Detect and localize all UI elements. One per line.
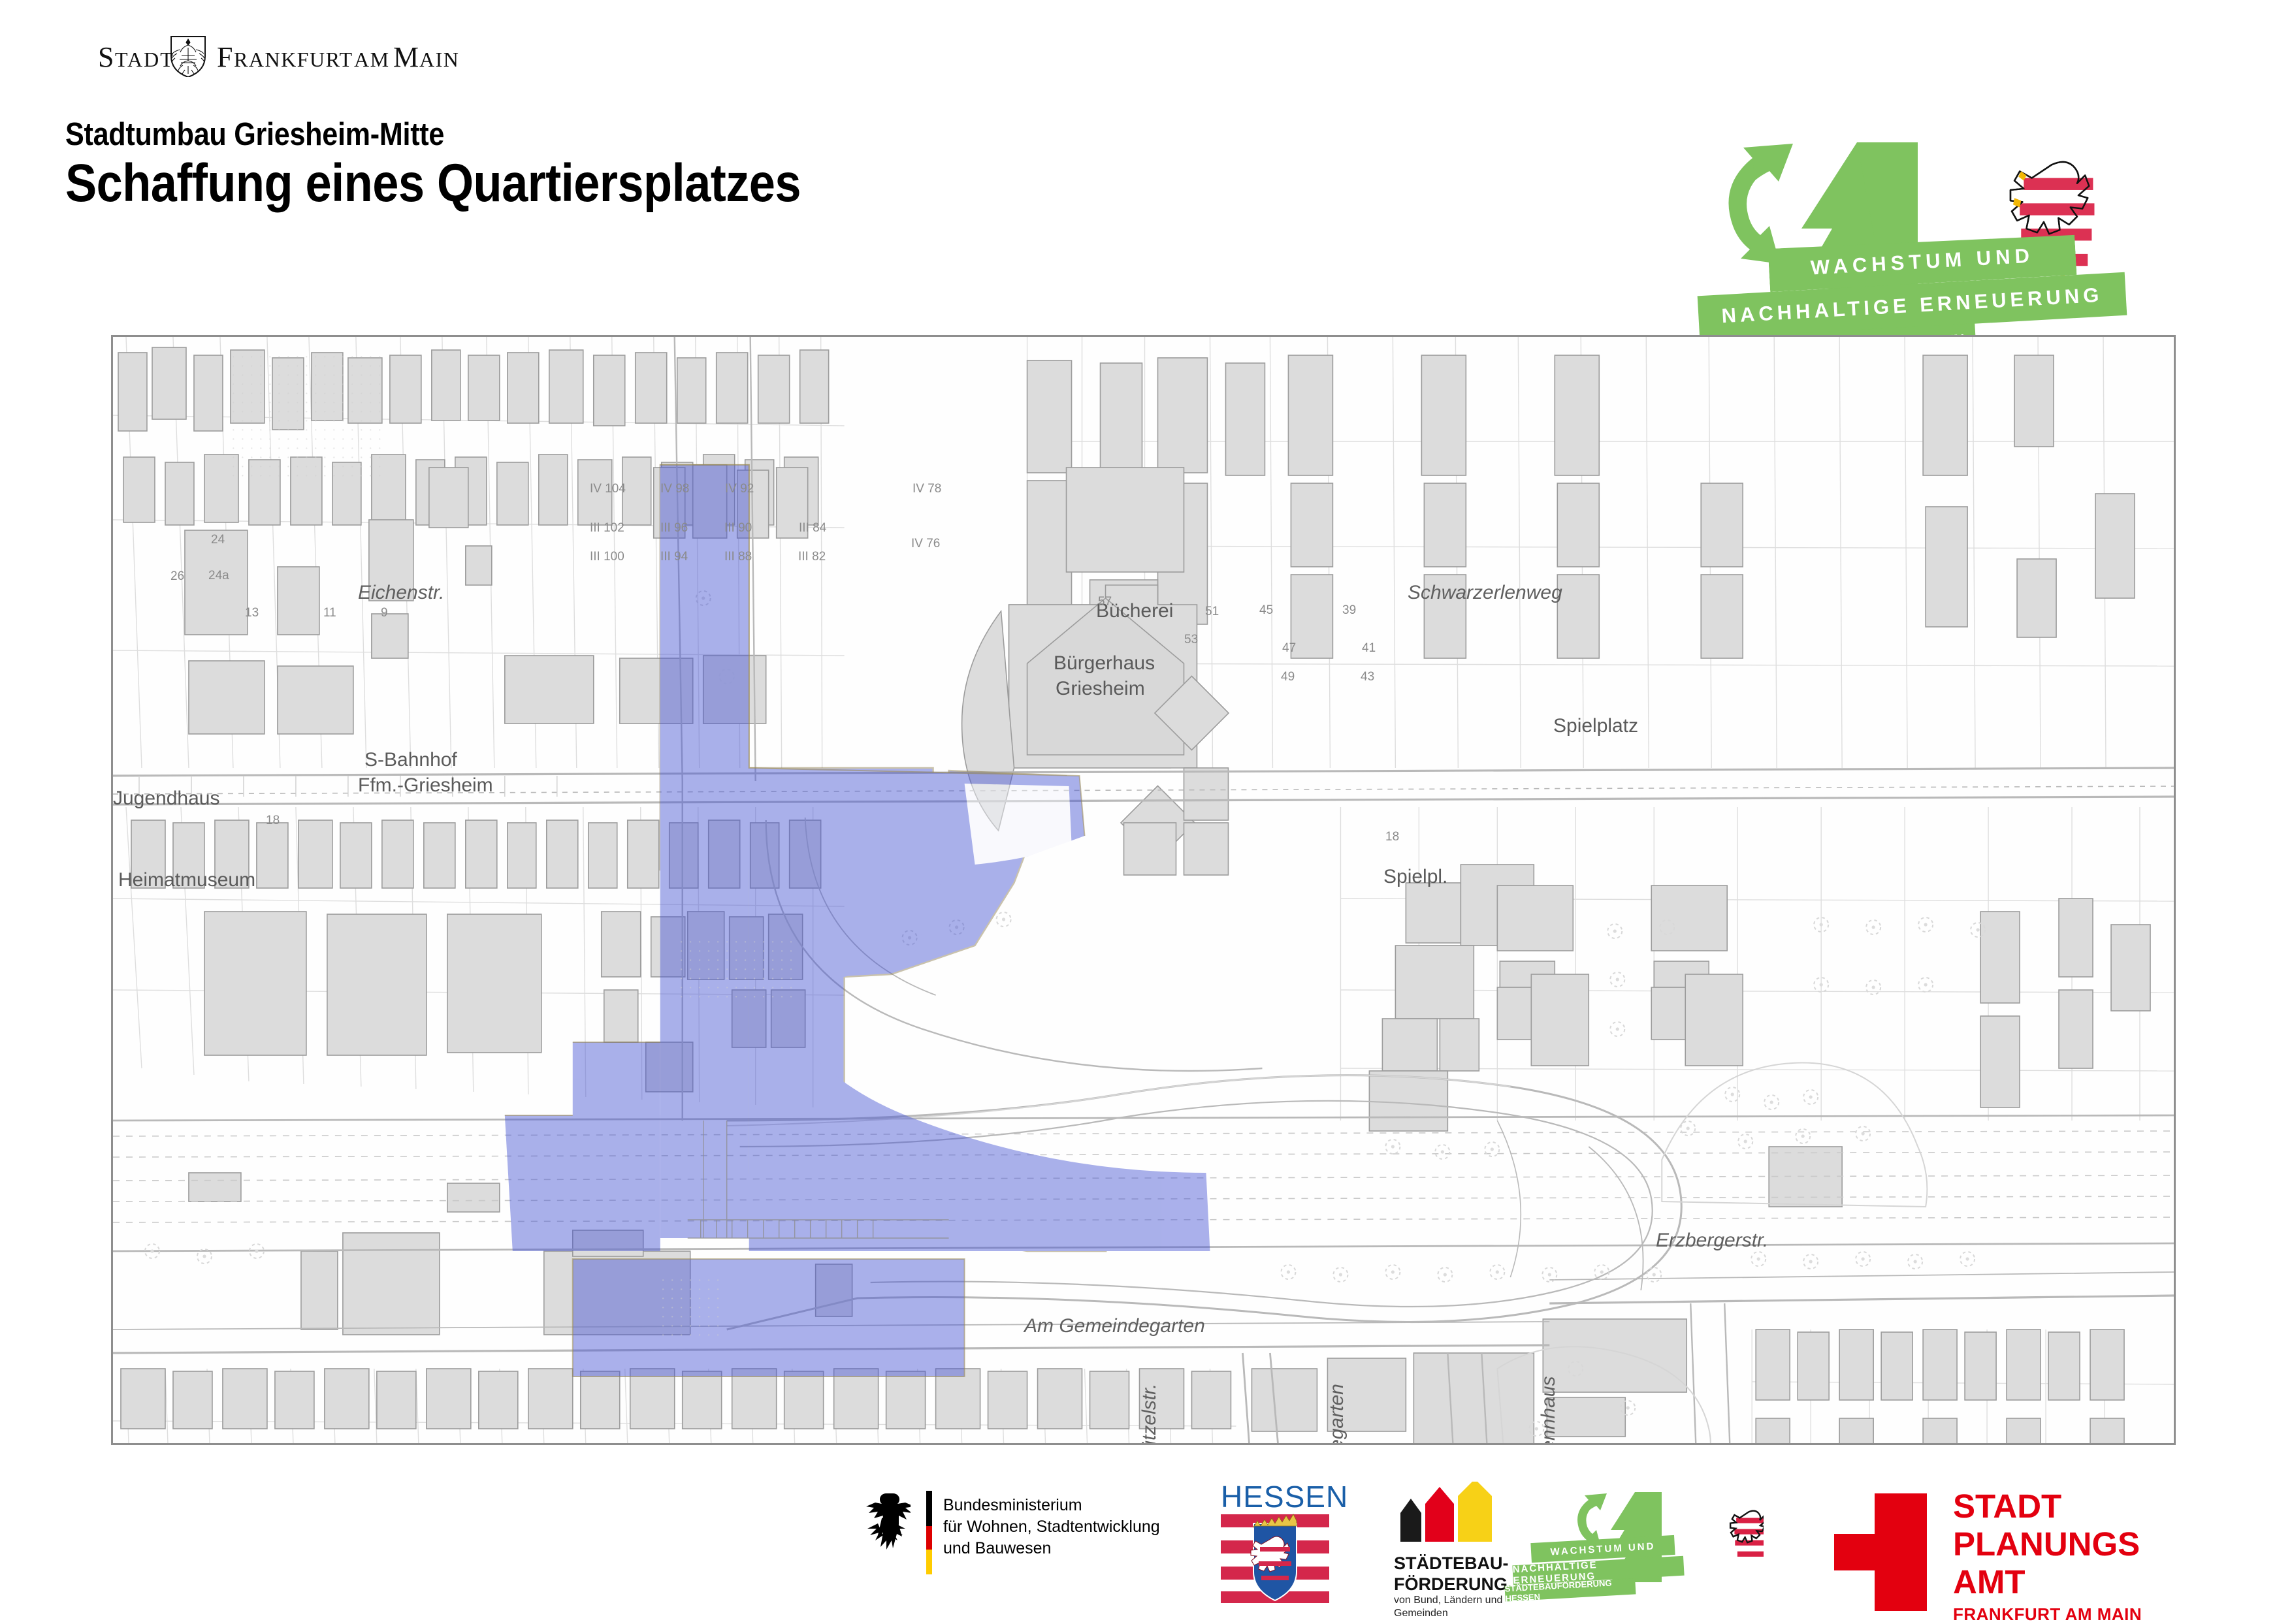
stadtplanungsamt-mark-icon <box>1829 1493 1933 1611</box>
parcel-label: 49 <box>1281 670 1295 684</box>
flag-stripe-red <box>926 1526 932 1550</box>
parcel-label: 26 <box>170 569 184 584</box>
parcel-label: 39 <box>1342 603 1356 618</box>
parcel-label: IV 98 <box>660 482 689 496</box>
project-subtitle: Stadtumbau Griesheim-Mitte <box>65 119 444 151</box>
place-label-buergerhaus: Bürgerhaus <box>1054 652 1155 675</box>
parcel-label: 11 <box>323 606 336 620</box>
hessen-lion-icon-small <box>1730 1511 1764 1557</box>
parcel-label: 51 <box>1205 605 1219 619</box>
parcel-label: III 102 <box>590 521 624 535</box>
parcel-label: III 96 <box>660 521 688 535</box>
svg-text:S: S <box>98 41 114 73</box>
hessen-logo: HESSEN <box>1219 1479 1337 1603</box>
stadtplanungsamt-sub: FRANKFURT AM MAIN <box>1953 1606 2142 1623</box>
parcel-label: 18 <box>1385 830 1399 844</box>
place-label-griesheim: Griesheim <box>1056 678 1145 700</box>
hessen-coat-of-arms-icon <box>1219 1513 1331 1604</box>
place-label-spielplatz: Spielplatz <box>1553 715 1638 737</box>
parcel-label: III 94 <box>660 550 688 564</box>
stadtplanungsamt-line-3: AMT <box>1953 1565 2025 1600</box>
parcel-label: 57 <box>1098 595 1112 609</box>
footer-logo-bar: Bundesministerium für Wohnen, Stadtentwi… <box>0 1473 2292 1619</box>
recycle-arrow-icon <box>1728 144 1793 264</box>
svg-text:RANKFURT: RANKFURT <box>234 48 353 71</box>
flag-stripe-gold <box>926 1550 932 1574</box>
parcel-label: III 84 <box>799 521 826 535</box>
parcel-label: 43 <box>1361 670 1374 684</box>
parcel-label: 41 <box>1362 641 1376 656</box>
svg-text:AIN: AIN <box>419 48 459 71</box>
place-label-ffm-griesheim: Ffm.-Griesheim <box>358 774 493 797</box>
parcel-label: 45 <box>1259 603 1273 618</box>
parcel-label: IV 104 <box>590 482 626 496</box>
place-label-heimatmuseum: Heimatmuseum <box>118 869 255 891</box>
staedtebau-sub-2: Gemeinden <box>1394 1607 1502 1620</box>
cadastral-map[interactable]: Eichenstr. Schwarzerlenweg Am Gemeindega… <box>111 335 2176 1445</box>
parcel-label: III 100 <box>590 550 624 564</box>
parcel-label: III 82 <box>798 550 826 564</box>
hessen-wordmark: HESSEN <box>1221 1479 1348 1514</box>
stadt-frankfurt-am-main-wordmark: S TADT F RANKFURT AM M AIN <box>98 31 516 77</box>
parcel-label: 53 <box>1184 633 1198 647</box>
parcel-label: 47 <box>1282 641 1296 656</box>
parcel-label: 13 <box>245 606 259 620</box>
parcel-label: III 88 <box>724 550 752 564</box>
svg-text:F: F <box>217 41 233 73</box>
place-label-s-bahnhof: S-Bahnhof <box>364 749 457 771</box>
flag-stripe-black <box>926 1491 932 1526</box>
bmwsb-line-2: für Wohnen, Stadtentwicklung <box>943 1516 1160 1538</box>
bmwsb-line-3: und Bauwesen <box>943 1538 1160 1559</box>
svg-text:AM: AM <box>354 48 390 71</box>
stadtplanungsamt-line-2: PLANUNGS <box>1953 1527 2140 1562</box>
staedtebau-line-2: FÖRDERUNG <box>1394 1574 1509 1595</box>
street-label-eichenstr: Eichenstr. <box>358 582 444 604</box>
parcel-label: III 90 <box>724 521 752 535</box>
street-label-am-gemeindegarten-vertical: Am Gemeindegarten <box>1326 1384 1348 1445</box>
bmwsb-logo: Bundesministerium für Wohnen, Stadtentwi… <box>862 1486 1176 1584</box>
parcel-label: IV 92 <box>725 482 754 496</box>
frankfurt-eagle-crest-icon <box>171 37 205 77</box>
street-label-schwarzerlenweg: Schwarzerlenweg <box>1408 582 1562 604</box>
bundesadler-icon <box>862 1489 911 1568</box>
wachstum-logo-small: WACHSTUM UND NACHHALTIGE ERNEUERUNG STÄD… <box>1568 1483 1764 1607</box>
parcel-label: 24 <box>211 533 225 547</box>
parcel-label: IV 76 <box>911 537 940 551</box>
svg-text:TADT: TADT <box>115 48 174 71</box>
parcel-label: 9 <box>381 606 388 620</box>
street-label-obere-ruetzelstr: Obere Rützelstr. <box>1138 1384 1161 1445</box>
staedtebau-line-1: STÄDTEBAU- <box>1394 1553 1509 1574</box>
map-vector-layer <box>113 337 2174 1443</box>
stadtplanungsamt-logo: STADT PLANUNGS AMT FRANKFURT AM MAIN <box>1829 1484 2195 1612</box>
place-label-jugendhaus: Jugendhaus <box>113 788 219 810</box>
three-houses-icon <box>1394 1482 1511 1547</box>
bmwsb-line-1: Bundesministerium <box>943 1495 1160 1516</box>
staedtebau-sub-1: von Bund, Ländern und <box>1394 1594 1502 1607</box>
page-title: Schaffung eines Quartiersplatzes <box>65 157 801 210</box>
parcel-label: 24a <box>208 569 229 583</box>
place-label-spielpl: Spielpl. <box>1383 866 1447 888</box>
stadtplanungsamt-line-1: STADT <box>1953 1489 2061 1524</box>
street-label-am-brennhaus: Am Brennhaus <box>1538 1377 1560 1445</box>
svg-text:M: M <box>393 41 419 73</box>
parcel-label: 18 <box>266 814 280 828</box>
street-label-erzbergerstr: Erzbergerstr. <box>1656 1230 1768 1252</box>
street-label-am-gemeindegarten: Am Gemeindegarten <box>1024 1315 1205 1337</box>
city-of-frankfurt-logo: S TADT F RANKFURT AM M AIN <box>98 31 516 77</box>
parcel-label: IV 78 <box>912 482 941 496</box>
